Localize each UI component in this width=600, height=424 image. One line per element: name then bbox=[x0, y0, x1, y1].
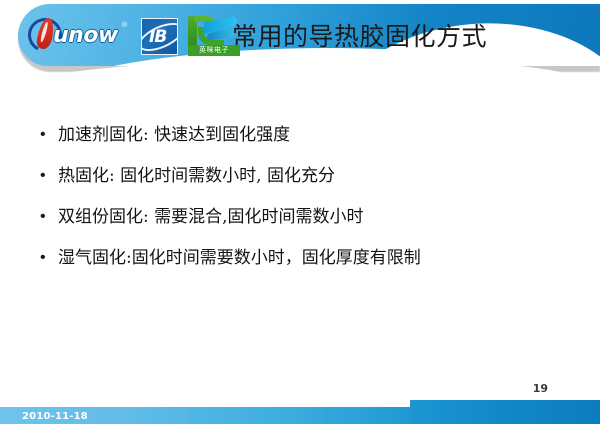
footer-date: 2010-11-18 bbox=[22, 411, 88, 422]
bullet-marker-icon: • bbox=[40, 245, 58, 271]
green-curve-shape bbox=[198, 27, 224, 46]
bullet-marker-icon: • bbox=[40, 163, 58, 189]
list-item: • 湿气固化:固化时间需要数小时，固化厚度有限制 bbox=[40, 245, 580, 271]
ib-wordmark: IB bbox=[149, 27, 166, 47]
slide-canvas: unow ® IB 英咪电子 常用的导热胶固化方式 • 加速剂固化: 快速达到固… bbox=[0, 0, 600, 424]
list-item-text: 热固化: 固化时间需数小时, 固化充分 bbox=[58, 163, 335, 189]
green-logo-caption: 英咪电子 bbox=[188, 45, 240, 56]
unow-registered-mark: ® bbox=[122, 22, 127, 29]
bullet-marker-icon: • bbox=[40, 204, 58, 230]
page-title: 常用的导热胶固化方式 bbox=[232, 22, 487, 52]
list-item-text: 湿气固化:固化时间需要数小时，固化厚度有限制 bbox=[58, 245, 421, 271]
unow-logo: unow ® bbox=[26, 16, 131, 56]
list-item-text: 双组份固化: 需要混合,固化时间需数小时 bbox=[58, 204, 364, 230]
list-item: • 热固化: 固化时间需数小时, 固化充分 bbox=[40, 163, 580, 189]
footer-bar-accent bbox=[410, 400, 600, 424]
ib-logo: IB bbox=[141, 18, 178, 55]
bullet-list: • 加速剂固化: 快速达到固化强度 • 热固化: 固化时间需数小时, 固化充分 … bbox=[40, 122, 580, 286]
page-number: 19 bbox=[533, 382, 548, 395]
list-item: • 加速剂固化: 快速达到固化强度 bbox=[40, 122, 580, 148]
list-item-text: 加速剂固化: 快速达到固化强度 bbox=[58, 122, 290, 148]
list-item: • 双组份固化: 需要混合,固化时间需数小时 bbox=[40, 204, 580, 230]
green-electronics-logo: 英咪电子 bbox=[188, 16, 240, 56]
bullet-marker-icon: • bbox=[40, 122, 58, 148]
unow-wordmark: unow bbox=[53, 23, 118, 48]
logo-row: unow ® IB 英咪电子 bbox=[26, 13, 240, 59]
slide-header-banner: unow ® IB 英咪电子 常用的导热胶固化方式 bbox=[0, 0, 600, 86]
